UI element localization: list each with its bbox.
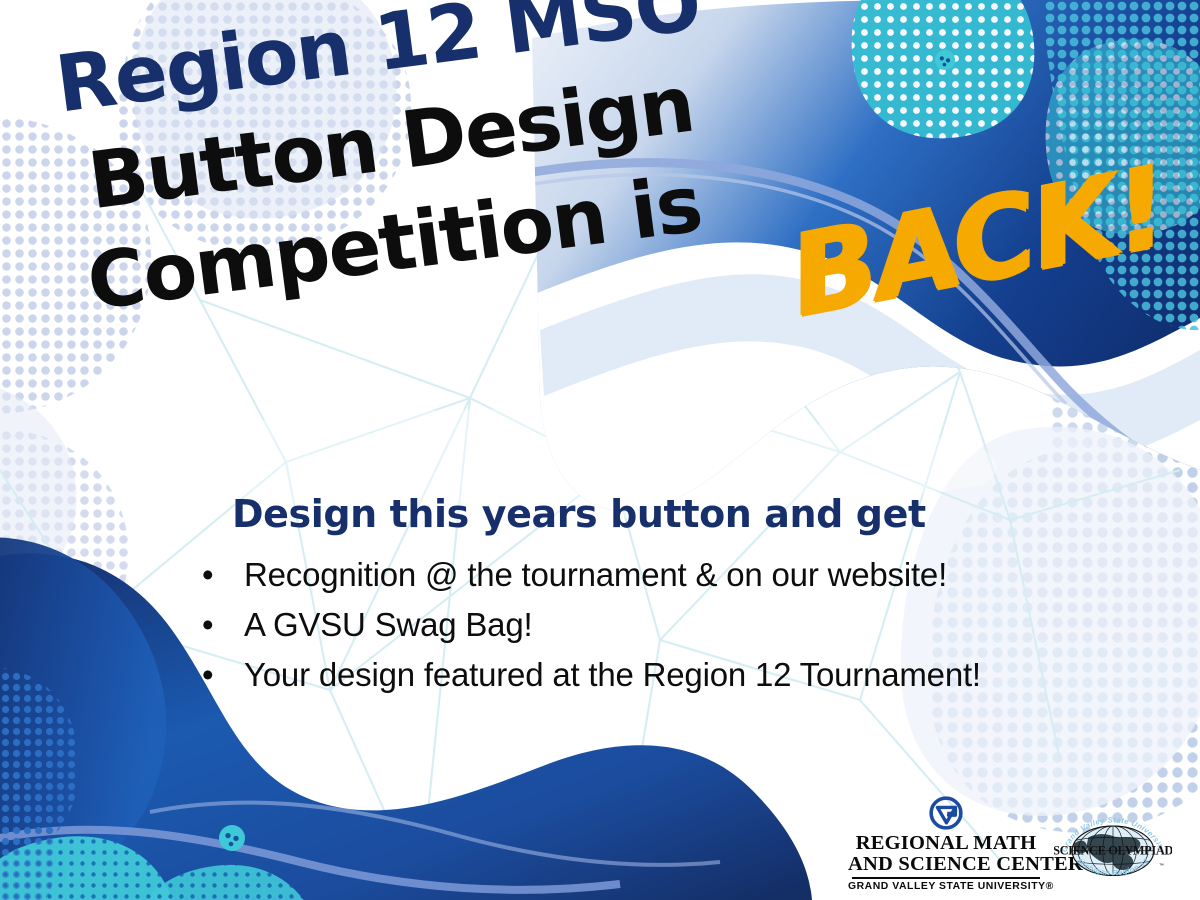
bullet-icon: • xyxy=(202,600,213,650)
gvsu-regional-math-science-center-logo: REGIONAL MATH AND SCIENCE CENTER GRAND V… xyxy=(848,796,1044,893)
headline-line-1: Region 12 MSO xyxy=(0,0,1200,131)
benefits-list: • Recognition @ the tournament & on our … xyxy=(196,550,1176,700)
list-item: • Recognition @ the tournament & on our … xyxy=(196,550,1176,600)
gvsu-line-2: AND SCIENCE CENTER xyxy=(848,854,1044,875)
bullet-icon: • xyxy=(202,550,213,600)
so-trademark: ™ xyxy=(1159,862,1164,868)
list-item-text: Your design featured at the Region 12 To… xyxy=(244,656,981,693)
logo-row: REGIONAL MATH AND SCIENCE CENTER GRAND V… xyxy=(848,796,1172,893)
headline-line-3: Competition is xyxy=(26,98,1200,330)
gvsu-line-1: REGIONAL MATH xyxy=(848,833,1044,854)
science-olympiad-michigan-region-12-logo: Grand Valley State University xyxy=(1054,807,1172,893)
list-item: • A GVSU Swag Bag! xyxy=(196,600,1176,650)
list-item-text: Recognition @ the tournament & on our we… xyxy=(244,556,947,593)
bullet-icon: • xyxy=(202,650,213,700)
subheading: Design this years button and get xyxy=(232,492,926,536)
list-item-text: A GVSU Swag Bag! xyxy=(244,606,532,643)
headline-block: Region 12 MSO Button Design Competition … xyxy=(0,0,1200,330)
so-wordmark: SCIENCE OLYMPIAD xyxy=(1054,843,1172,857)
headline-line-2: Button Design xyxy=(13,0,1200,231)
gvsu-g-mark-icon xyxy=(929,796,963,830)
poster-canvas: Region 12 MSO Button Design Competition … xyxy=(0,0,1200,900)
gvsu-divider xyxy=(852,877,1040,879)
back-text: BACK! xyxy=(781,151,1174,333)
list-item: • Your design featured at the Region 12 … xyxy=(196,650,1176,700)
gvsu-subline: GRAND VALLEY STATE UNIVERSITY® xyxy=(848,881,1044,893)
headline-accent-word: BACK! xyxy=(781,151,1174,333)
